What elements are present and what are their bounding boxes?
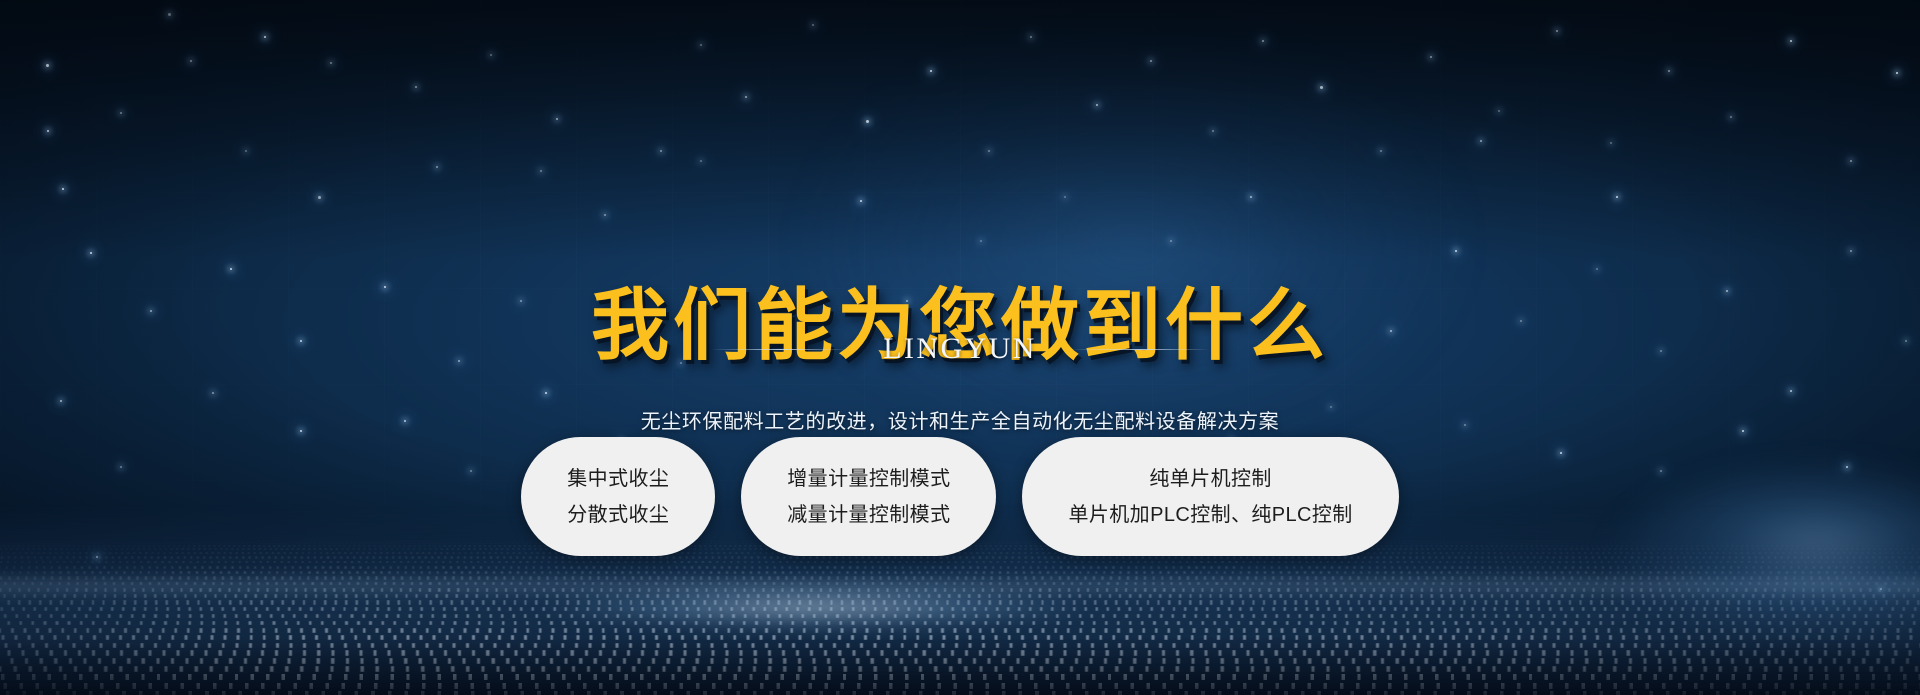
feature-pill-controller-type[interactable]: 纯单片机控制 单片机加PLC控制、纯PLC控制: [1022, 437, 1398, 556]
banner-description: 无尘环保配料工艺的改进，设计和生产全自动化无尘配料设备解决方案: [0, 405, 1920, 434]
pill-line-1: 增量计量控制模式: [787, 461, 950, 497]
feature-pill-group: 集中式收尘 分散式收尘 增量计量控制模式 减量计量控制模式 纯单片机控制 单片机…: [0, 437, 1920, 556]
brand-subtitle-row: LINGYUN: [0, 332, 1920, 366]
pill-line-1: 纯单片机控制: [1149, 461, 1271, 497]
pill-line-2: 减量计量控制模式: [787, 497, 950, 533]
divider-line-left: [711, 349, 849, 350]
pill-line-1: 集中式收尘: [567, 461, 669, 497]
pill-line-2: 单片机加PLC控制、纯PLC控制: [1068, 497, 1352, 533]
pill-line-2: 分散式收尘: [567, 497, 669, 533]
feature-pill-dust-collection[interactable]: 集中式收尘 分散式收尘: [521, 437, 715, 556]
brand-name: LINGYUN: [883, 332, 1036, 366]
divider-line-right: [1071, 349, 1209, 350]
feature-pill-metering-control-mode[interactable]: 增量计量控制模式 减量计量控制模式: [741, 437, 996, 556]
hero-banner: 我们能为您做到什么 LINGYUN 无尘环保配料工艺的改进，设计和生产全自动化无…: [0, 0, 1920, 695]
banner-content: 我们能为您做到什么 LINGYUN 无尘环保配料工艺的改进，设计和生产全自动化无…: [0, 0, 1920, 695]
